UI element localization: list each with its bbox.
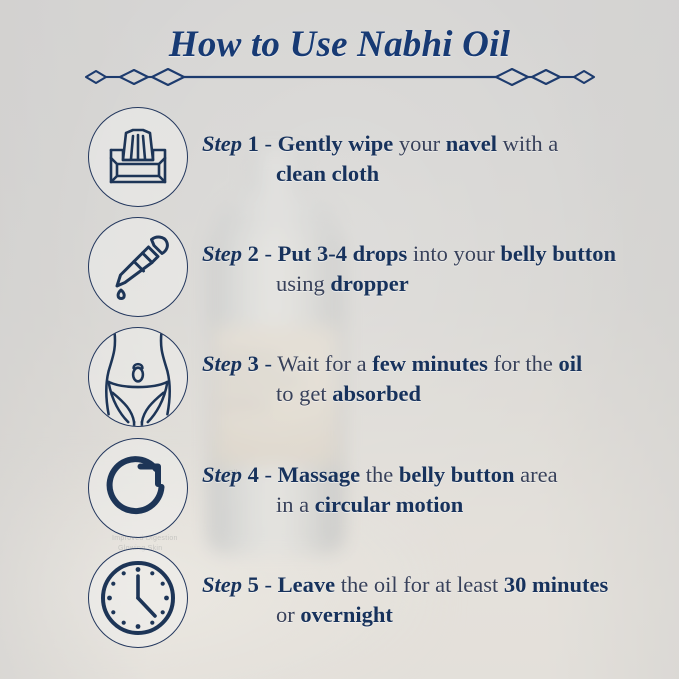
step-1-line2: clean cloth	[202, 159, 672, 189]
step-1-seg-1: Gently wipe	[278, 131, 394, 156]
step-4-seg-1: Massage	[278, 462, 361, 487]
dropper-icon	[88, 217, 188, 317]
step-5-seg-3: 30 minutes	[504, 572, 608, 597]
step-2-label: Step	[202, 241, 242, 266]
divider-svg	[84, 66, 596, 88]
step-1-seg-5: clean cloth	[276, 161, 379, 186]
step-1-seg-2: your	[399, 131, 440, 156]
clock-hands	[138, 576, 155, 616]
step-2-seg-1: Put 3-4 drops	[278, 241, 408, 266]
step-5-line2: or overnight	[202, 600, 672, 630]
step-2-seg-2: into your	[413, 241, 495, 266]
step-3-text: Step 3 - Wait for a few minutes for the …	[202, 349, 672, 409]
step-3-number: 3	[248, 351, 259, 376]
step-1-label: Step	[202, 131, 242, 156]
step-2-seg-3: belly button	[500, 241, 616, 266]
step-5-text: Step 5 - Leave the oil for at least 30 m…	[202, 570, 672, 630]
dropper-glyph	[104, 233, 172, 301]
step-5-seg-5: overnight	[300, 602, 393, 627]
step-4-label: Step	[202, 462, 242, 487]
step-4-text: Step 4 - Massage the belly button area i…	[202, 460, 672, 520]
step-4-dash: -	[265, 462, 273, 487]
step-3-icon-wrap	[88, 327, 188, 427]
step-4-icon-wrap	[88, 438, 188, 538]
step-4-line2: in a circular motion	[202, 490, 672, 520]
step-3-seg-2: few minutes	[372, 351, 488, 376]
clock-glyph	[99, 559, 177, 637]
step-5-seg-4: or	[276, 602, 295, 627]
circular-arrow-glyph	[103, 453, 173, 523]
step-1-icon-wrap	[88, 107, 188, 207]
tissue-box-glyph	[103, 126, 173, 188]
step-2-icon-wrap	[88, 217, 188, 317]
step-4-seg-3: belly button	[399, 462, 515, 487]
step-1-text: Step 1 - Gently wipe your navel with a c…	[202, 129, 672, 189]
ornamental-divider	[84, 66, 596, 88]
step-5-number: 5	[248, 572, 259, 597]
step-3-dash: -	[265, 351, 273, 376]
belly-torso-icon	[88, 327, 188, 427]
step-2-dash: -	[265, 241, 273, 266]
clock-icon	[88, 548, 188, 648]
step-1-seg-3: navel	[446, 131, 497, 156]
step-3-line2: to get absorbed	[202, 379, 672, 409]
tissue-box-icon	[88, 107, 188, 207]
step-1-dash: -	[265, 131, 273, 156]
step-2-seg-4: using	[276, 271, 325, 296]
step-2-seg-5: dropper	[330, 271, 408, 296]
step-5-seg-1: Leave	[278, 572, 335, 597]
step-5-icon-wrap	[88, 548, 188, 648]
step-4-seg-2: the	[366, 462, 394, 487]
step-3-seg-5: to get	[276, 381, 327, 406]
step-3-seg-3: for the	[494, 351, 553, 376]
circular-arrow-icon	[88, 438, 188, 538]
step-2-text: Step 2 - Put 3-4 drops into your belly b…	[202, 239, 672, 299]
infographic-poster: Oil Improved Digestion Glowing Skin How …	[0, 0, 679, 679]
step-4-seg-5: in a	[276, 492, 309, 517]
page-title: How to Use Nabhi Oil	[0, 23, 679, 66]
step-3-seg-6: absorbed	[332, 381, 421, 406]
step-2-line2: using dropper	[202, 269, 672, 299]
step-4-seg-4: area	[520, 462, 557, 487]
step-3-seg-4: oil	[558, 351, 582, 376]
step-2-number: 2	[248, 241, 259, 266]
step-1-number: 1	[248, 131, 259, 156]
step-3-label: Step	[202, 351, 242, 376]
step-3-seg-1: Wait for a	[277, 351, 366, 376]
step-4-seg-6: circular motion	[315, 492, 464, 517]
step-1-seg-4: with a	[503, 131, 559, 156]
step-5-seg-2: the oil for at least	[341, 572, 498, 597]
belly-torso-glyph	[89, 327, 187, 427]
step-5-dash: -	[265, 572, 273, 597]
step-5-label: Step	[202, 572, 242, 597]
step-4-number: 4	[248, 462, 259, 487]
